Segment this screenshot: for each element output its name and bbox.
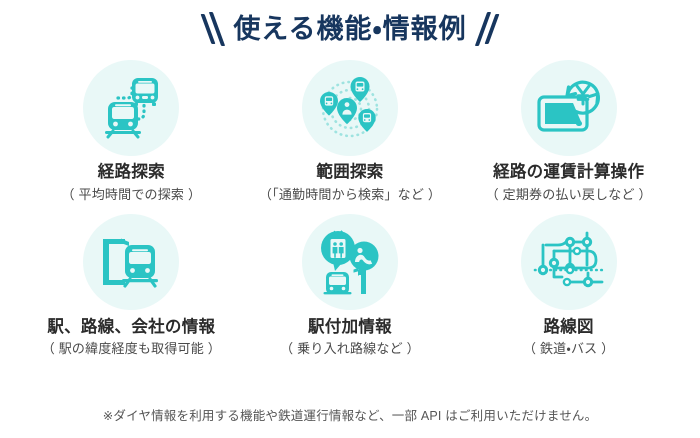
double-slash-right-icon: [481, 12, 494, 46]
footnote-text: ※ダイヤ情報を利用する機能や鉄道運行情報など、一部 API はご利用いただけませ…: [0, 405, 700, 424]
feature-title: 経路の運賃計算操作: [493, 162, 644, 183]
feature-subtitle: （ 平均時間での探索 ）: [62, 187, 202, 204]
route-map-network-icon: [521, 214, 617, 310]
feature-title: 路線図: [543, 317, 593, 338]
feature-grid: 経路探索 （ 平均時間での探索 ）: [0, 54, 700, 358]
feature-card-station-facility-info: 駅付加情報 （ 乗り入れ路線など ）: [241, 214, 460, 359]
fare-calculation-card-icon: [521, 60, 617, 156]
feature-card-route-map: 路線図 （ 鉄道・バス ）: [459, 214, 678, 359]
feature-title: 駅付加情報: [308, 317, 392, 338]
feature-subtitle: （ 駅の緯度経度も取得可能 ）: [42, 341, 221, 358]
feature-card-area-search: 範囲探索 （「通勤時間から検索」など ）: [241, 60, 460, 204]
route-search-icon: [83, 60, 179, 156]
area-search-pins-icon: [302, 60, 398, 156]
double-slash-left-icon: [206, 12, 219, 46]
feature-subtitle: （ 定期券の払い戻しなど ）: [486, 187, 652, 204]
station-facility-info-icon: [302, 214, 398, 310]
page-title-bar: 使える機能・情報例: [0, 0, 700, 54]
feature-subtitle: （ 乗り入れ路線など ）: [280, 341, 420, 358]
feature-title: 範囲探索: [316, 162, 383, 183]
feature-card-fare-calculation: 経路の運賃計算操作 （ 定期券の払い戻しなど ）: [459, 60, 678, 204]
feature-title: 経路探索: [98, 162, 165, 183]
page-title: 使える機能・情報例: [233, 16, 466, 43]
feature-card-station-line-company: 駅、路線、会社の情報 （ 駅の緯度経度も取得可能 ）: [22, 214, 241, 359]
feature-subtitle: （ 鉄道・バス ）: [523, 341, 614, 358]
feature-subtitle: （「通勤時間から検索」など ）: [259, 187, 441, 204]
feature-card-route-search: 経路探索 （ 平均時間での探索 ）: [22, 60, 241, 204]
station-line-company-icon: [83, 214, 179, 310]
feature-title: 駅、路線、会社の情報: [47, 317, 215, 338]
